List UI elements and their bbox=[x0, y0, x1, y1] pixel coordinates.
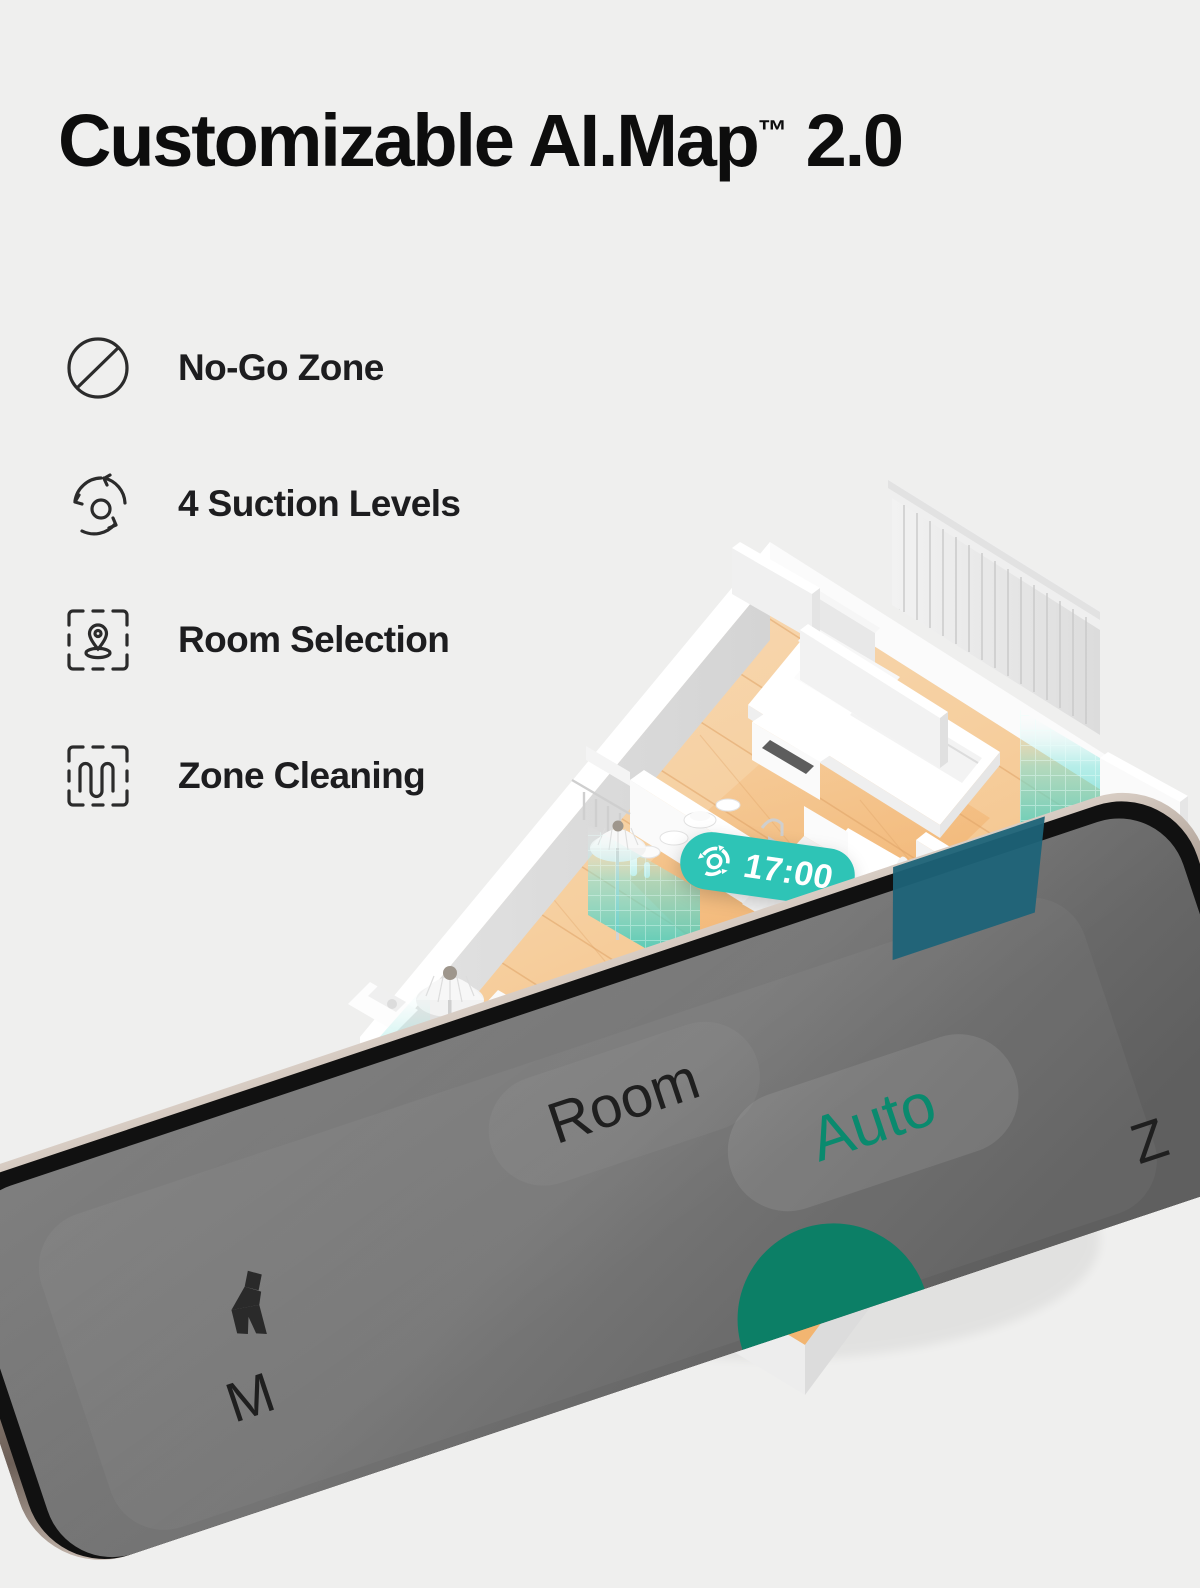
suction-swirl-icon bbox=[691, 839, 739, 884]
trademark-symbol: ™ bbox=[758, 114, 788, 147]
room-selection-pin-icon bbox=[60, 602, 136, 678]
page-title-main: Customizable AI.Map bbox=[58, 99, 758, 182]
suction-swirl-icon bbox=[60, 466, 136, 542]
page-title: Customizable AI.Map™ 2.0 bbox=[58, 104, 902, 178]
page-title-version: 2.0 bbox=[787, 99, 902, 182]
zone-cleaning-path-icon bbox=[60, 738, 136, 814]
no-entry-icon bbox=[60, 330, 136, 406]
